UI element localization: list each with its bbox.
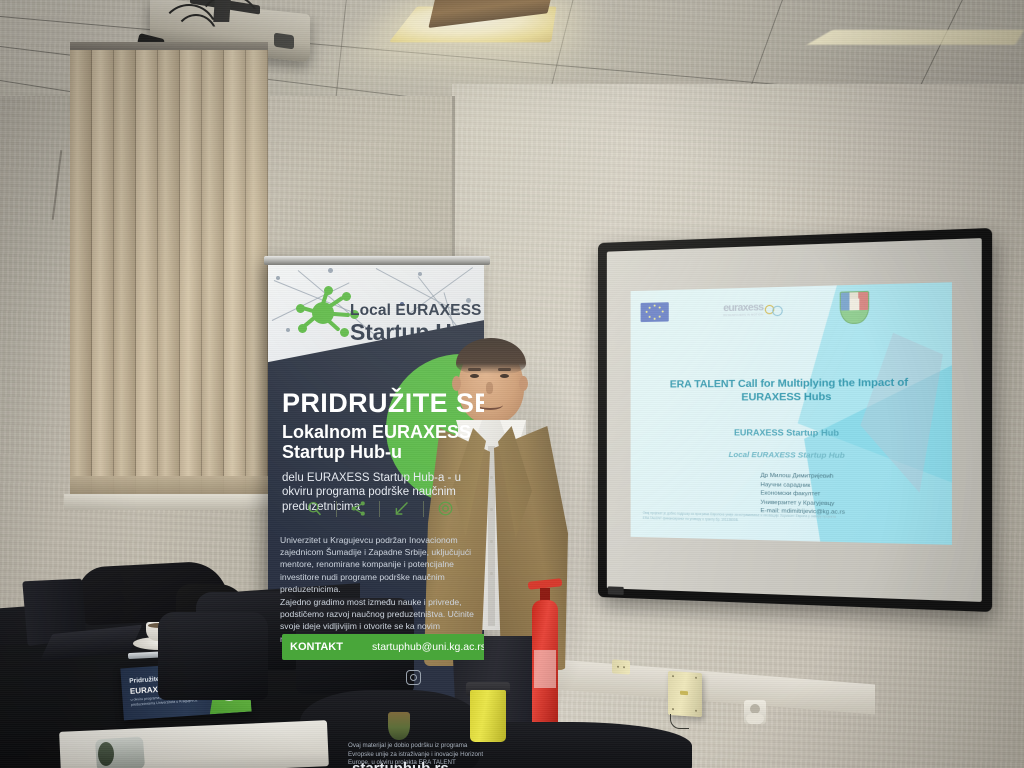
blind-slat	[114, 50, 136, 498]
presenter-eye	[500, 374, 509, 378]
beige-wall-switch[interactable]	[612, 659, 630, 674]
projected-slide: euraxess RESEARCHERS IN MOTION ERA TALEN…	[631, 282, 952, 545]
blind-slat	[70, 50, 92, 498]
eu-flag-logo	[641, 302, 669, 322]
banner-contact-label: KONTAKT	[290, 641, 343, 653]
wall-mounted-projection-whiteboard: euraxess RESEARCHERS IN MOTION ERA TALEN…	[598, 228, 992, 612]
presenter-nose	[486, 382, 493, 394]
euraxess-logo: euraxess RESEARCHERS IN MOTION	[723, 301, 782, 317]
blinds-bottom-chain	[70, 476, 268, 494]
junction-box-wire	[670, 714, 689, 729]
conference-room-photo: Local EURAXESS Startup Hub PRIDRUŽITE SE…	[0, 0, 1024, 768]
banner-logo-line1: Local EURAXESS	[350, 302, 481, 320]
slide-subtitle-1: EURAXESS Startup Hub	[655, 427, 925, 438]
icon-divider	[379, 501, 380, 517]
presenter-eyebrow	[468, 368, 481, 371]
slide-title: ERA TALENT Call for Multiplying the Impa…	[655, 377, 925, 405]
blind-slat	[92, 50, 114, 498]
university-of-kragujevac-crest	[388, 712, 410, 740]
blind-slat	[158, 50, 180, 498]
presenter-hair	[456, 338, 526, 374]
flipchart-roller-cap	[98, 742, 114, 766]
network-dot	[418, 272, 422, 276]
projector-lens	[274, 33, 294, 50]
shirt-button	[490, 572, 493, 575]
icon-divider	[336, 501, 337, 517]
euraxess-wordmark: euraxess	[723, 302, 763, 314]
yellow-waste-bin	[470, 690, 506, 742]
presenter-ear	[519, 376, 528, 391]
whiteboard-surface: euraxess RESEARCHERS IN MOTION ERA TALEN…	[607, 238, 982, 602]
search-icon	[306, 500, 323, 517]
shirt-button	[490, 476, 493, 479]
banner-logo-euraxess: EURAXESS	[391, 302, 481, 319]
presenter-eyebrow	[498, 368, 511, 371]
ceiling-light-reflection	[806, 30, 1024, 45]
network-dot	[328, 268, 333, 273]
banner-headline-group: PRIDRUŽITE SE Lokalnom EURAXESS Startup …	[282, 390, 482, 514]
slide-subtitle-2: Local EURAXESS Startup Hub	[655, 450, 925, 461]
shirt-button	[490, 540, 493, 543]
logo-node	[342, 292, 351, 301]
banner-contact-button[interactable]: KONTAKT startuphub@uni.kg.ac.rs	[282, 634, 484, 660]
presenter-eye	[470, 374, 479, 378]
blind-slat	[224, 50, 246, 498]
beige-electrical-junction-box	[668, 671, 702, 717]
blind-slat	[202, 50, 224, 498]
banner-headline-primary: PRIDRUŽITE SE	[282, 390, 482, 418]
blind-slat	[180, 50, 202, 498]
vertical-blinds[interactable]	[70, 50, 268, 498]
banner-paragraph-1: Univerzitet u Kragujevcu podržan Inovaci…	[280, 534, 484, 595]
red-fire-extinguisher	[532, 600, 558, 740]
arrow-down-left-icon	[393, 500, 410, 517]
icon-divider	[423, 501, 424, 517]
euraxess-circle-icon	[772, 306, 783, 317]
black-office-chair[interactable]	[158, 612, 268, 700]
logo-node	[324, 286, 333, 295]
white-power-outlet[interactable]	[744, 700, 766, 724]
logo-node	[296, 304, 305, 313]
share-network-icon	[350, 500, 367, 517]
banner-top-rail	[264, 256, 490, 265]
logo-node	[340, 328, 349, 337]
university-crest-logo	[840, 290, 870, 323]
window-sill	[64, 494, 276, 510]
network-dot	[276, 276, 280, 280]
instagram-icon[interactable]	[406, 670, 421, 685]
shirt-button	[490, 508, 493, 511]
banner-contact-email: startuphub@uni.kg.ac.rs	[372, 641, 484, 653]
slide-logo-row: euraxess RESEARCHERS IN MOTION	[641, 291, 870, 327]
extinguisher-label	[534, 650, 556, 688]
banner-icon-row	[306, 500, 454, 517]
whiteboard-label-tag	[608, 586, 624, 595]
blind-slat	[136, 50, 158, 498]
banner-headline-secondary: Lokalnom EURAXESS Startup Hub-u	[282, 422, 482, 463]
slide-author-block: Др Милош Димитријевић Научни сарадник Ек…	[760, 472, 945, 520]
banner-url: startuphub.rs	[352, 760, 449, 768]
euraxess-tagline: RESEARCHERS IN MOTION	[723, 313, 763, 317]
blind-slat	[246, 50, 268, 498]
logo-node	[298, 324, 307, 333]
banner-logo-local: Local	[350, 302, 391, 319]
window-with-blinds	[70, 42, 268, 504]
target-circle-icon	[437, 500, 454, 517]
instagram-glyph	[406, 670, 421, 685]
